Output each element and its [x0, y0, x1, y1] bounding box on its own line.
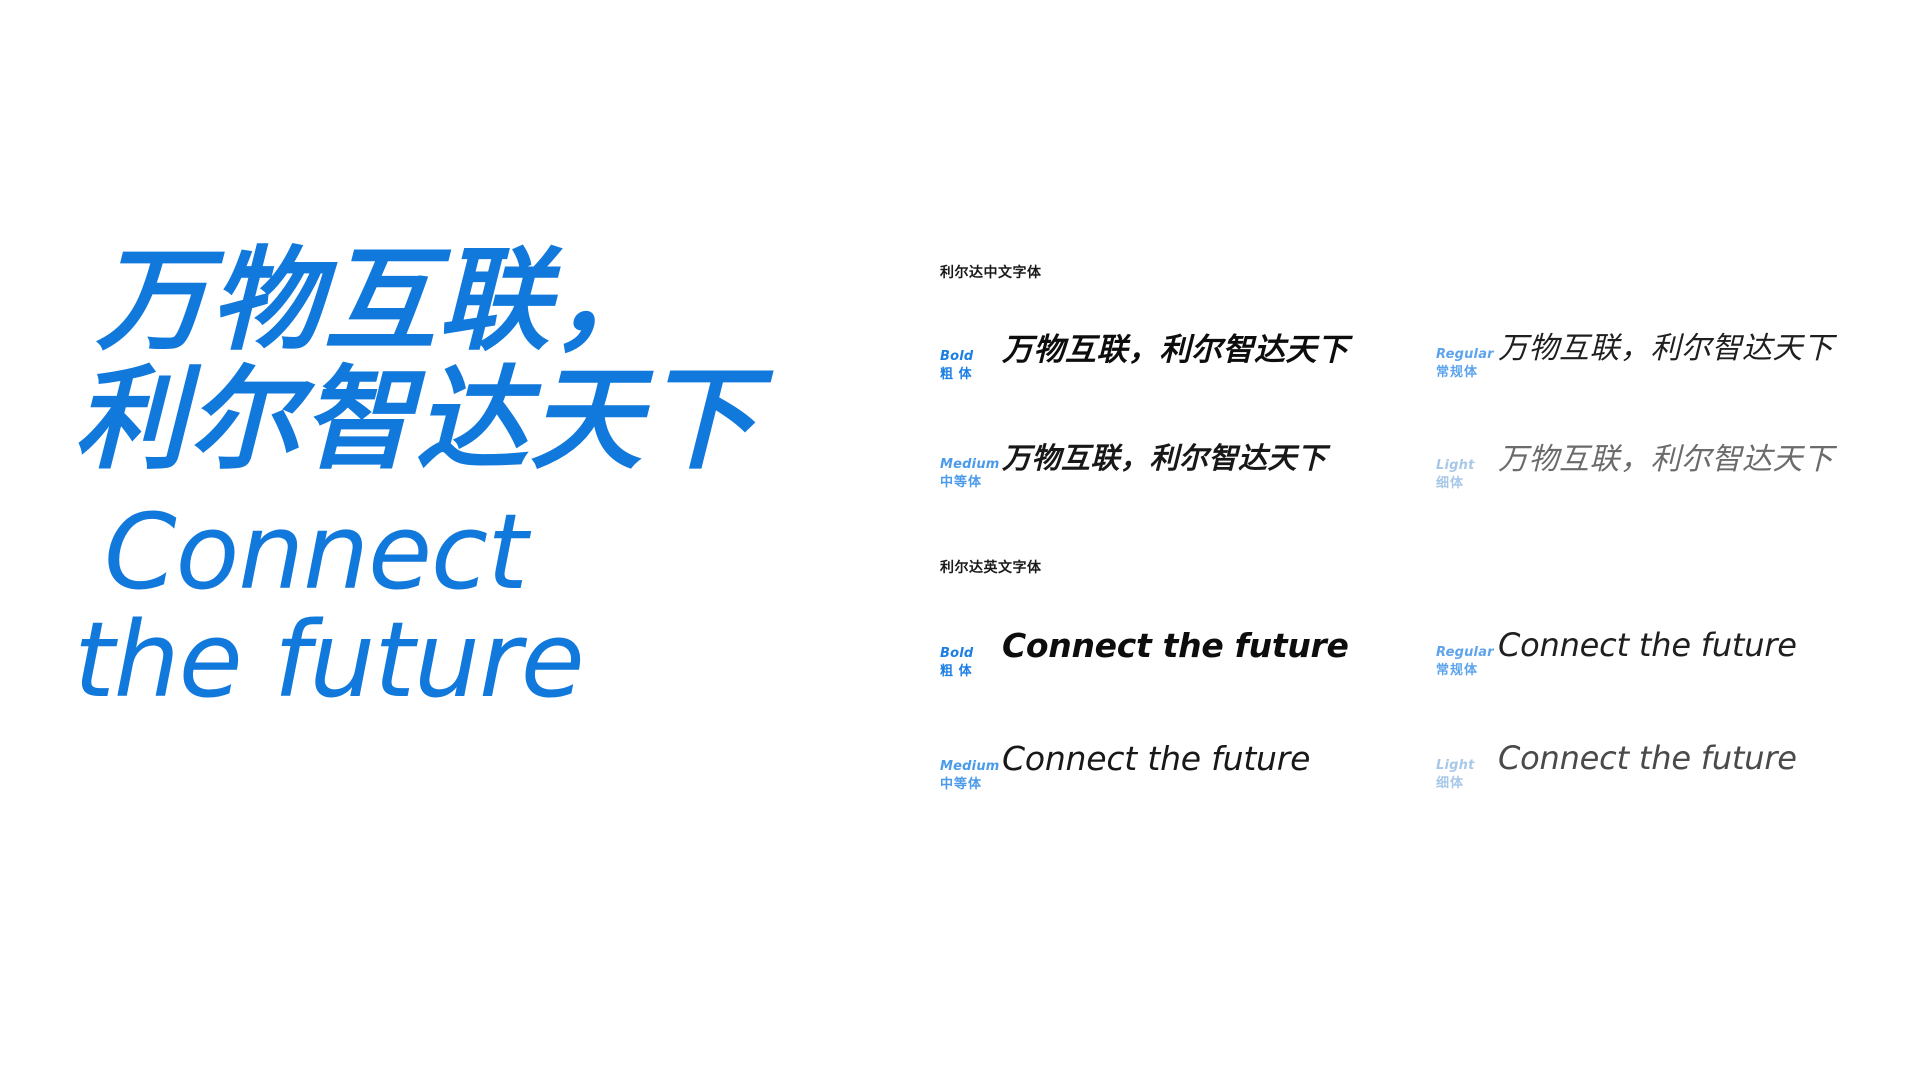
weight-label-chinese: 中等体: [940, 776, 1002, 792]
specimen-text-en-bold: Connect the future: [1002, 629, 1349, 662]
specimen-text-cn-light: 万物互联，利尔智达天下: [1498, 445, 1834, 475]
typography-specimen-page: 万物互联， 利尔智达天下 Connect the future 利尔达中文字体 …: [0, 0, 1920, 1080]
weight-label-cn-regular: Regular 常规体: [1436, 345, 1498, 381]
hero-english-line-1: Connect: [104, 495, 886, 609]
weight-label-latin: Light: [1436, 458, 1498, 474]
weight-label-latin: Medium: [940, 759, 1002, 775]
hero-lockup: 万物互联， 利尔智达天下 Connect the future: [96, 238, 886, 718]
specimen-text-en-medium: Connect the future: [1002, 742, 1310, 775]
section-title-english: 利尔达英文字体: [940, 557, 1860, 577]
weight-label-latin: Regular: [1436, 645, 1498, 661]
weight-label-en-bold: Bold 粗 体: [940, 644, 1002, 680]
specimen-panel: 利尔达中文字体 Bold 粗 体 万物互联，利尔智达天下 Regular 常规体…: [940, 262, 1860, 792]
weight-label-chinese: 细体: [1436, 475, 1498, 491]
weight-label-latin: Light: [1436, 758, 1498, 774]
weight-label-latin: Bold: [940, 646, 1002, 662]
specimen-text-cn-regular: 万物互联，利尔智达天下: [1498, 334, 1834, 364]
weight-label-chinese: 细体: [1436, 775, 1498, 791]
weight-grid-english: Bold 粗 体 Connect the future Regular 常规体 …: [940, 629, 1860, 792]
specimen-text-cn-bold: 万物互联，利尔智达天下: [1002, 334, 1349, 365]
specimen-text-en-regular: Connect the future: [1498, 629, 1797, 661]
specimen-row-cn-regular: Regular 常规体 万物互联，利尔智达天下: [1436, 334, 1860, 383]
specimen-row-cn-bold: Bold 粗 体 万物互联，利尔智达天下: [940, 334, 1436, 383]
specimen-row-en-regular: Regular 常规体 Connect the future: [1436, 629, 1860, 680]
weight-label-latin: Medium: [940, 457, 1002, 473]
weight-label-chinese: 常规体: [1436, 364, 1498, 380]
weight-label-en-light: Light 细体: [1436, 756, 1498, 792]
hero-english-line-2: the future: [74, 603, 886, 717]
weight-grid-chinese: Bold 粗 体 万物互联，利尔智达天下 Regular 常规体 万物互联，利尔…: [940, 334, 1860, 491]
weight-label-cn-bold: Bold 粗 体: [940, 347, 1002, 383]
weight-label-cn-light: Light 细体: [1436, 456, 1498, 492]
specimen-text-cn-medium: 万物互联，利尔智达天下: [1002, 445, 1327, 474]
weight-label-chinese: 中等体: [940, 474, 1002, 490]
weight-label-en-regular: Regular 常规体: [1436, 643, 1498, 679]
specimen-row-en-bold: Bold 粗 体 Connect the future: [940, 629, 1436, 680]
section-title-chinese: 利尔达中文字体: [940, 262, 1860, 282]
weight-label-en-medium: Medium 中等体: [940, 757, 1002, 793]
weight-label-chinese: 常规体: [1436, 662, 1498, 678]
specimen-row-cn-medium: Medium 中等体 万物互联，利尔智达天下: [940, 445, 1436, 492]
weight-label-cn-medium: Medium 中等体: [940, 455, 1002, 491]
hero-chinese-line-1: 万物互联，: [96, 238, 886, 363]
specimen-row-cn-light: Light 细体 万物互联，利尔智达天下: [1436, 445, 1860, 492]
weight-label-latin: Regular: [1436, 347, 1498, 363]
section-english-typeface: 利尔达英文字体 Bold 粗 体 Connect the future Regu…: [940, 557, 1860, 792]
specimen-text-en-light: Connect the future: [1498, 742, 1797, 774]
weight-label-chinese: 粗 体: [940, 663, 1002, 679]
hero-chinese-line-2: 利尔智达天下: [74, 357, 886, 482]
weight-label-chinese: 粗 体: [940, 366, 1002, 382]
section-chinese-typeface: 利尔达中文字体 Bold 粗 体 万物互联，利尔智达天下 Regular 常规体…: [940, 262, 1860, 491]
weight-label-latin: Bold: [940, 349, 1002, 365]
specimen-row-en-medium: Medium 中等体 Connect the future: [940, 742, 1436, 793]
specimen-row-en-light: Light 细体 Connect the future: [1436, 742, 1860, 793]
